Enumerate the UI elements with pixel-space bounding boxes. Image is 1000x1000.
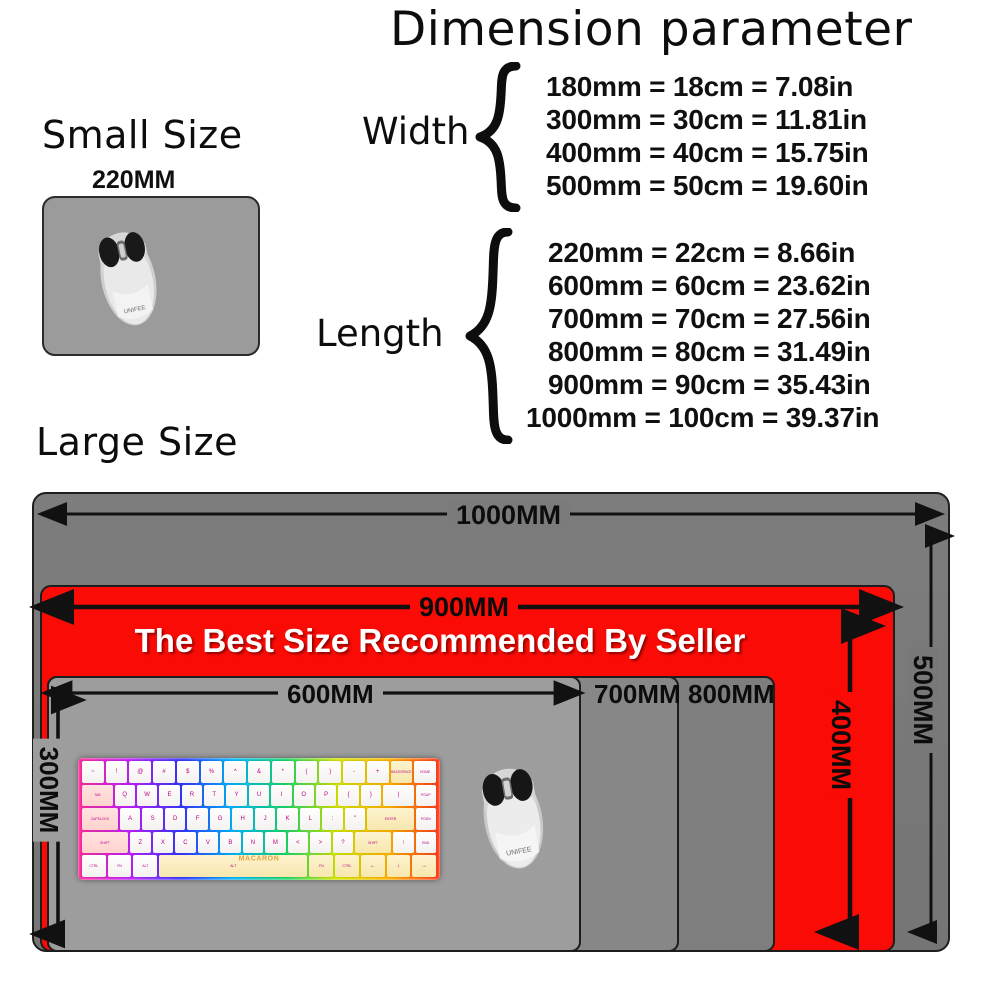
keycap[interactable]: " bbox=[345, 808, 366, 830]
keycap[interactable]: L bbox=[300, 808, 321, 830]
keycap[interactable]: { bbox=[338, 785, 358, 807]
keycap[interactable]: O bbox=[294, 785, 314, 807]
keycap[interactable]: W bbox=[137, 785, 157, 807]
keycap[interactable]: PGDN bbox=[416, 808, 437, 830]
keycap[interactable]: ! bbox=[106, 761, 128, 783]
large-size-heading: Large Size bbox=[36, 420, 238, 464]
keycap[interactable]: # bbox=[153, 761, 175, 783]
label-700mm: 700MM bbox=[594, 679, 681, 710]
spec-row: 1000mm = 100cm = 39.37in bbox=[526, 401, 879, 434]
width-spec-list: 180mm = 18cm = 7.08in 300mm = 30cm = 11.… bbox=[546, 70, 869, 202]
keycap[interactable]: } bbox=[361, 785, 381, 807]
keycap[interactable]: R bbox=[182, 785, 202, 807]
small-mousepad: UNIFEE bbox=[42, 196, 260, 356]
keycap[interactable]: T bbox=[204, 785, 224, 807]
keycap[interactable]: ← bbox=[361, 855, 385, 877]
keycap[interactable]: S bbox=[142, 808, 163, 830]
keycap[interactable]: M bbox=[265, 832, 286, 854]
keycap[interactable]: I bbox=[271, 785, 291, 807]
keycap[interactable]: P bbox=[316, 785, 336, 807]
keycap[interactable]: HOME bbox=[414, 761, 436, 783]
keycap[interactable]: A bbox=[120, 808, 141, 830]
keycap[interactable]: BACKSPACE bbox=[391, 761, 413, 783]
label-600mm: 600MM bbox=[278, 679, 383, 710]
brace-width-icon bbox=[470, 62, 530, 212]
keycap[interactable]: > bbox=[310, 832, 331, 854]
keycap[interactable]: | bbox=[383, 785, 414, 807]
keycap[interactable]: FN bbox=[309, 855, 333, 877]
spec-row: 700mm = 70cm = 27.56in bbox=[548, 302, 879, 335]
spec-row: 220mm = 22cm = 8.66in bbox=[548, 236, 879, 269]
keycap[interactable]: Z bbox=[130, 832, 151, 854]
keycap[interactable]: $ bbox=[177, 761, 199, 783]
keycap[interactable]: : bbox=[322, 808, 343, 830]
keycap[interactable]: K bbox=[277, 808, 298, 830]
keycap[interactable]: E bbox=[159, 785, 179, 807]
keycap[interactable]: G bbox=[210, 808, 231, 830]
keycap[interactable]: + bbox=[367, 761, 389, 783]
keycap[interactable]: % bbox=[201, 761, 223, 783]
keyboard-row: ~!@#$%^&*()-+BACKSPACEHOME bbox=[82, 761, 436, 783]
keycap[interactable]: END bbox=[416, 832, 437, 854]
keycap[interactable]: * bbox=[272, 761, 294, 783]
label-400mm: 400MM bbox=[825, 692, 856, 798]
spec-row: 300mm = 30cm = 11.81in bbox=[546, 103, 869, 136]
length-spec-list: 220mm = 22cm = 8.66in 600mm = 60cm = 23.… bbox=[548, 236, 879, 434]
spacebar-label: MACARON bbox=[239, 856, 280, 863]
keycap[interactable]: @ bbox=[129, 761, 151, 783]
length-group-label: Length bbox=[316, 312, 444, 355]
keycap[interactable]: ↓ bbox=[387, 855, 411, 877]
keycap[interactable]: ↑ bbox=[393, 832, 414, 854]
brace-length-icon bbox=[460, 228, 522, 444]
label-500mm: 500MM bbox=[907, 647, 938, 753]
keycap[interactable]: ? bbox=[333, 832, 354, 854]
keycap[interactable]: CAPSLOCK bbox=[82, 808, 118, 830]
keycap[interactable]: C bbox=[175, 832, 196, 854]
keycap[interactable]: TAB bbox=[82, 785, 113, 807]
keycap[interactable]: PGUP bbox=[416, 785, 436, 807]
keycap[interactable]: X bbox=[153, 832, 174, 854]
keyboard-row: TABQWERTYUIOP{}|PGUP bbox=[82, 785, 436, 807]
keycap[interactable]: ALT bbox=[133, 855, 157, 877]
keyboard-row: SHIFTZXCVBNM<>?SHIFT↑END bbox=[82, 832, 436, 854]
rgb-keyboard: ~!@#$%^&*()-+BACKSPACEHOMETABQWERTYUIOP{… bbox=[78, 758, 440, 880]
keycap[interactable]: → bbox=[412, 855, 436, 877]
spec-row: 600mm = 60cm = 23.62in bbox=[548, 269, 879, 302]
keycap[interactable]: - bbox=[343, 761, 365, 783]
keycap[interactable]: Q bbox=[115, 785, 135, 807]
keycap[interactable]: D bbox=[165, 808, 186, 830]
keycap[interactable]: J bbox=[255, 808, 276, 830]
keycap[interactable]: CTRL bbox=[82, 855, 106, 877]
keycap[interactable]: B bbox=[220, 832, 241, 854]
keycap[interactable]: & bbox=[248, 761, 270, 783]
keycap[interactable]: CTRL bbox=[335, 855, 359, 877]
keycap[interactable]: F bbox=[187, 808, 208, 830]
width-group-label: Width bbox=[362, 110, 470, 153]
keycap[interactable]: ^ bbox=[224, 761, 246, 783]
label-1000mm: 1000MM bbox=[447, 500, 570, 531]
page-title: Dimension parameter bbox=[390, 2, 912, 57]
keycap[interactable]: FN bbox=[108, 855, 132, 877]
spec-row: 500mm = 50cm = 19.60in bbox=[546, 169, 869, 202]
keyboard-row: CAPSLOCKASDFGHJKL:"ENTERPGDN bbox=[82, 808, 436, 830]
label-800mm: 800MM bbox=[688, 679, 775, 710]
keycap[interactable]: Y bbox=[226, 785, 246, 807]
spec-row: 180mm = 18cm = 7.08in bbox=[546, 70, 869, 103]
infographic-canvas: Dimension parameter Width 180mm = 18cm =… bbox=[0, 0, 1000, 1000]
small-size-heading: Small Size bbox=[42, 113, 243, 157]
label-300mm: 300MM bbox=[33, 739, 64, 842]
keycap[interactable]: ( bbox=[296, 761, 318, 783]
keycap[interactable]: ENTER bbox=[367, 808, 413, 830]
keycap[interactable]: SHIFT bbox=[82, 832, 128, 854]
keycap[interactable]: ~ bbox=[82, 761, 104, 783]
spec-row: 900mm = 90cm = 35.43in bbox=[548, 368, 879, 401]
mouse-icon: UNIFEE bbox=[472, 762, 554, 874]
recommended-size-text: The Best Size Recommended By Seller bbox=[40, 622, 840, 660]
keycap[interactable]: SHIFT bbox=[355, 832, 391, 854]
keycap[interactable]: ALT bbox=[159, 855, 307, 877]
spec-row: 400mm = 40cm = 15.75in bbox=[546, 136, 869, 169]
keycap[interactable]: U bbox=[249, 785, 269, 807]
spec-row: 800mm = 80cm = 31.49in bbox=[548, 335, 879, 368]
keycap[interactable]: ) bbox=[319, 761, 341, 783]
keycap[interactable]: N bbox=[243, 832, 264, 854]
label-900mm: 900MM bbox=[410, 592, 518, 623]
keycap[interactable]: V bbox=[198, 832, 219, 854]
keycap[interactable]: < bbox=[288, 832, 309, 854]
keycap[interactable]: H bbox=[232, 808, 253, 830]
small-pad-width-label: 220MM bbox=[92, 166, 175, 195]
mouse-icon: UNIFEE bbox=[90, 226, 166, 330]
